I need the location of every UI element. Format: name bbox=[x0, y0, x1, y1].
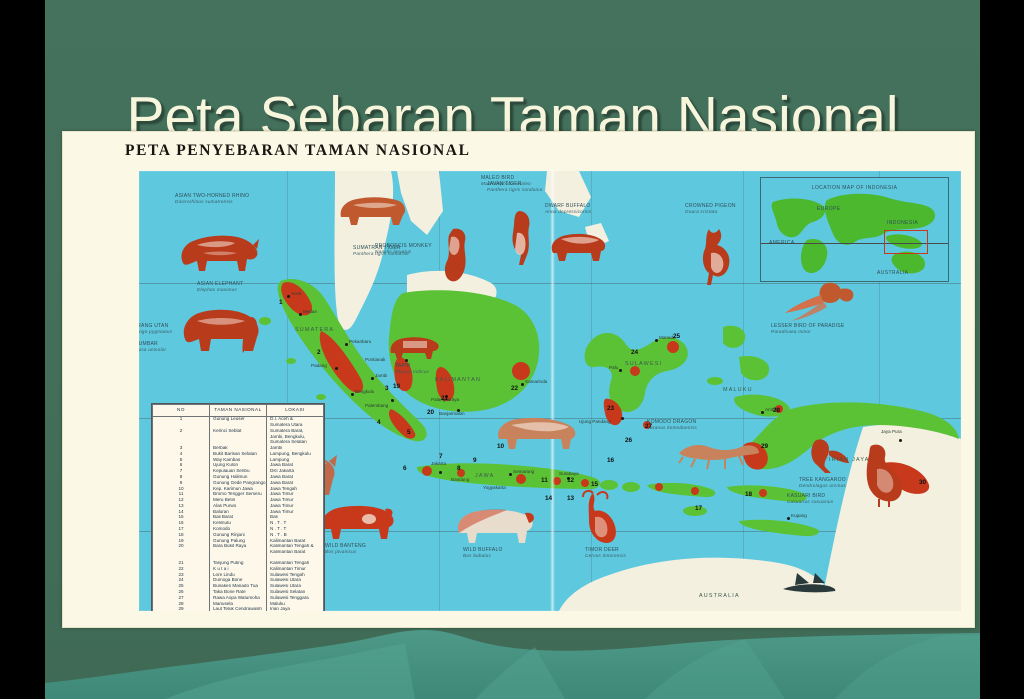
animal-illustration-wild-buffalo bbox=[451, 501, 537, 547]
animal-label-crowned-pigeon: CROWNED PIGEON Goura cristata bbox=[685, 203, 736, 215]
decorative-doodle bbox=[779, 571, 839, 597]
animal-illustration-komodo-dragon bbox=[675, 439, 761, 473]
park-marker-6: 6 bbox=[403, 465, 407, 472]
inset-label-europe: EUROPE bbox=[817, 206, 841, 212]
animal-label-orang-utan: ORANG UTAN Pongo pygmaeus bbox=[139, 323, 172, 335]
region-label-australia: AUSTRALIA bbox=[699, 593, 740, 599]
legend-header-lokasi: LOKASI bbox=[267, 405, 324, 417]
park-marker-9: 9 bbox=[473, 457, 477, 464]
city-dot bbox=[287, 295, 290, 298]
legend-cell-location: Irian Jaya bbox=[267, 607, 324, 611]
park-marker-30: 30 bbox=[919, 479, 926, 486]
park-marker-17: 17 bbox=[695, 505, 702, 512]
city-label-pontianak: Pontianak bbox=[365, 357, 385, 362]
inset-label-indonesia: INDONESIA bbox=[887, 220, 918, 226]
region-label-jawa: JAWA bbox=[475, 473, 494, 479]
city-label-jakarta: Jakarta bbox=[431, 461, 446, 466]
region-label-sumatera: SUMATERA bbox=[295, 327, 334, 333]
animal-label-javan-tiger: JAVAN TIGER Panthera tigris sondaica bbox=[487, 181, 542, 193]
region-label-maluku: MALUKU bbox=[723, 387, 753, 393]
animal-illustration-kasuari-bird bbox=[855, 441, 909, 507]
city-dot bbox=[521, 383, 524, 386]
animal-label-komodo-dragon: KOMODO DRAGON Varanus komodoensis bbox=[647, 419, 697, 431]
animal-illustration-tree-kangaroo bbox=[805, 433, 851, 477]
decorative-wave bbox=[45, 621, 980, 699]
presentation-slide: Peta Sebaran Taman Nasional PETA PENYEBA… bbox=[0, 0, 1024, 699]
animal-illustration-bird-of-paradise bbox=[783, 275, 857, 323]
animal-label-tree-kangaroo: TREE KANGAROO Dendrolagus ursinus bbox=[799, 477, 846, 489]
region-label-irian-jaya: IRIAN JAYA bbox=[829, 457, 870, 463]
animal-label-wild-buffalo: WILD BUFFALO Bos bubalus bbox=[463, 547, 503, 559]
park-marker-15: 15 bbox=[591, 481, 598, 488]
map-image: PETA PENYEBARAN TAMAN NASIONAL bbox=[62, 131, 975, 628]
city-label-palu: Palu bbox=[609, 365, 618, 370]
park-marker-14: 14 bbox=[545, 495, 552, 502]
region-label-kalimantan: KALIMANTAN bbox=[435, 377, 481, 383]
animal-illustration-tapir bbox=[387, 329, 441, 363]
park-marker-23: 23 bbox=[607, 405, 614, 412]
city-dot bbox=[787, 517, 790, 520]
park-marker-12: 12 bbox=[567, 477, 574, 484]
city-dot bbox=[621, 417, 624, 420]
animal-label-wild-banteng: WILD BANTENG Bos javanicus bbox=[325, 543, 366, 555]
park-marker-18: 18 bbox=[745, 491, 752, 498]
park-marker-24: 24 bbox=[631, 349, 638, 356]
animal-label-asian-two-horned-rhino: ASIAN TWO-HORNED RHINO Dicerorhinus suma… bbox=[175, 193, 249, 205]
inset-highlight-box bbox=[884, 230, 928, 254]
park-marker-26: 26 bbox=[625, 437, 632, 444]
park-marker-2: 2 bbox=[317, 349, 321, 356]
park-marker-22: 22 bbox=[511, 385, 518, 392]
park-marker-20: 20 bbox=[427, 409, 434, 416]
region-label-sulawesi: SULAWESI bbox=[625, 361, 662, 367]
city-label-palembang: Palembang bbox=[365, 403, 388, 408]
city-label-medan: Medan bbox=[303, 309, 317, 314]
legend-row: 29Laut Teluk CendrawasihIrian Jaya bbox=[153, 607, 324, 611]
city-dot bbox=[351, 393, 354, 396]
city-label-samarinda: Samarinda bbox=[525, 379, 547, 384]
animal-illustration-rhino bbox=[173, 221, 261, 277]
park-marker-11: 11 bbox=[541, 477, 548, 484]
park-marker-25: 25 bbox=[673, 333, 680, 340]
city-label-surabaya: Surabaya bbox=[559, 471, 579, 476]
city-label-padang: Padang bbox=[311, 363, 327, 368]
park-marker-10: 10 bbox=[497, 443, 504, 450]
park-marker-7: 7 bbox=[439, 453, 443, 460]
park-marker-29: 29 bbox=[761, 443, 768, 450]
inset-label-australia: AUSTRALIA bbox=[877, 270, 908, 276]
city-dot bbox=[619, 369, 622, 372]
animal-label-tapir: TAPIR Tapirus indicus bbox=[395, 363, 429, 375]
park-marker-13: 13 bbox=[567, 495, 574, 502]
animal-illustration-maleo-bird bbox=[505, 207, 535, 269]
city-label-bengkulu: Bengkulu bbox=[355, 389, 374, 394]
city-label-banjarmasin: Banjarmasin bbox=[439, 411, 465, 416]
park-marker-19: 19 bbox=[393, 383, 400, 390]
legend-table: NO TAMAN NASIONAL LOKASI 1Gunung LeuserD… bbox=[151, 403, 325, 611]
animal-illustration-sumatran-tiger bbox=[335, 185, 409, 229]
animal-illustration-javan-tiger bbox=[491, 407, 579, 453]
city-dot bbox=[509, 473, 512, 476]
park-marker-21: 21 bbox=[441, 395, 448, 402]
inset-label-america: AMERICA bbox=[769, 240, 795, 246]
city-dot bbox=[371, 377, 374, 380]
legend-cell-no: 29 bbox=[153, 607, 210, 611]
animal-label-asian-elephant: ASIAN ELEPHANT Elephas maximus bbox=[197, 281, 243, 293]
park-marker-28: 28 bbox=[773, 407, 780, 414]
city-label-jambi: Jambi bbox=[375, 373, 387, 378]
animal-label-kasuari-bird: KASUARI BIRD Casuarius casuarius bbox=[787, 493, 833, 505]
city-dot bbox=[345, 343, 348, 346]
city-label-pekanbaru: Pekanbaru bbox=[349, 339, 371, 344]
animal-label-timor-deer: TIMOR DEER Cervus timorensis bbox=[585, 547, 626, 559]
city-dot bbox=[391, 399, 394, 402]
legend-header-no: NO bbox=[153, 405, 210, 417]
park-marker-5: 5 bbox=[407, 429, 411, 436]
map-ocean-plate: LOCATION MAP OF INDONESIA AMERICA EURO bbox=[139, 171, 961, 611]
park-marker-16: 16 bbox=[607, 457, 614, 464]
city-label-semarang: Semarang bbox=[513, 469, 534, 474]
city-label-bandung: Bandung bbox=[451, 477, 469, 482]
city-dot bbox=[299, 313, 302, 316]
park-marker-27: 27 bbox=[645, 423, 652, 430]
park-marker-4: 4 bbox=[377, 419, 381, 426]
legend-table-grid: NO TAMAN NASIONAL LOKASI 1Gunung LeuserD… bbox=[152, 404, 324, 611]
animal-illustration-timor-deer bbox=[577, 489, 639, 547]
animal-label-sumbar: SUMBAR Rusa unicolor bbox=[139, 341, 166, 353]
city-dot bbox=[439, 471, 442, 474]
animal-illustration-proboscis-monkey bbox=[439, 223, 473, 285]
city-label-ujung-pandang: Ujung Pandang bbox=[579, 419, 611, 424]
city-dot bbox=[899, 439, 902, 442]
animal-illustration-crowned-pigeon bbox=[697, 227, 741, 289]
park-marker-3: 3 bbox=[385, 385, 389, 392]
park-marker-8: 8 bbox=[457, 465, 461, 472]
map-caption: PETA PENYEBARAN TAMAN NASIONAL bbox=[125, 142, 471, 160]
animal-label-dwarf-buffalo: DWARF BUFFALO Anoa depressicornis bbox=[545, 203, 591, 215]
city-label-yogyakarta: Yogyakarta bbox=[483, 485, 506, 490]
location-inset-map: LOCATION MAP OF INDONESIA AMERICA EURO bbox=[760, 177, 949, 282]
legend-header-row: NO TAMAN NASIONAL LOKASI bbox=[153, 405, 324, 417]
park-marker-1: 1 bbox=[279, 299, 283, 306]
city-label-jaya-pura: Jaya Pura bbox=[881, 429, 902, 434]
city-label-aceh: Aceh bbox=[291, 291, 301, 296]
animal-illustration-dwarf-buffalo bbox=[547, 227, 609, 265]
animal-illustration-elephant bbox=[177, 299, 263, 357]
legend-cell-park: Laut Teluk Cendrawasih bbox=[210, 607, 267, 611]
animal-label-lesser-bird-of-paradise: LESSER BIRD OF PARADISE Paradisaea minor bbox=[771, 323, 844, 335]
legend-header-taman-nasional: TAMAN NASIONAL bbox=[210, 405, 267, 417]
city-dot bbox=[405, 359, 408, 362]
city-dot bbox=[335, 367, 338, 370]
legend-body: 1Gunung LeuserD.I. Aceh & Sumatera Utara… bbox=[153, 416, 324, 611]
city-dot bbox=[655, 339, 658, 342]
animal-illustration-wild-banteng bbox=[315, 497, 397, 543]
animal-label-proboscis-monkey: PROBOSCIS MONKEY Nasalis larvatus bbox=[375, 243, 432, 255]
city-label-kupang: Kupang bbox=[791, 513, 807, 518]
city-dot bbox=[761, 411, 764, 414]
